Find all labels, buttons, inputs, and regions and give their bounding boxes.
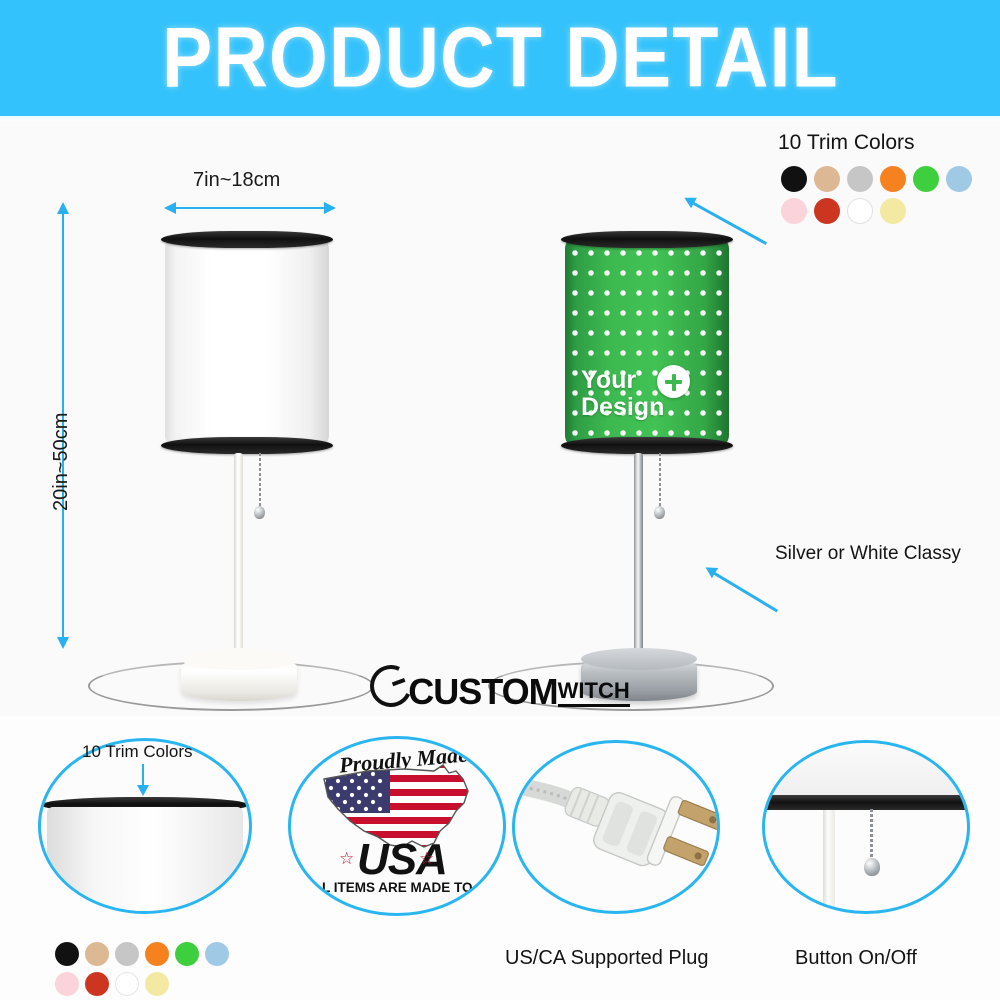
swatch-green[interactable] [175,942,199,966]
swatch-red[interactable] [85,972,109,996]
base-finish-label: Silver or White Classy [775,543,961,565]
shade-bottom-trim [161,437,333,454]
feature-circle-trim-colors [38,738,252,914]
shade-closeup [47,807,243,914]
us-plug-icon [515,743,717,911]
lamp-shade-white [165,239,329,445]
shade-bottom-closeup [762,743,970,799]
pull-chain [659,453,661,508]
header-banner: PRODUCT DETAIL [0,0,1000,116]
swatch-black[interactable] [781,166,807,192]
swatch-tan[interactable] [85,942,109,966]
product-detail-infographic: PRODUCT DETAIL 7in~18cm 20in~50cm [0,0,1000,1000]
feature-circle-switch [762,740,970,914]
swatch-gray[interactable] [115,942,139,966]
feature-circle-plug [512,740,720,914]
width-dimension-label: 7in~18cm [193,169,280,192]
star-right-icon: ☆ [419,849,434,869]
pull-chain-ball [654,506,665,519]
swatch-red[interactable] [814,198,840,224]
design-line-1: Your [581,366,636,394]
swatch-yellow[interactable] [880,198,906,224]
shade-bottom-trim [561,437,733,454]
swatch-white[interactable] [847,198,873,224]
white-lamp: 7in~18cm [75,161,405,721]
swatch-pink[interactable] [781,198,807,224]
swatch-white[interactable] [115,972,139,996]
swatch-green[interactable] [913,166,939,192]
swatch-yellow[interactable] [145,972,169,996]
swatch-black[interactable] [55,942,79,966]
green-lamp: Your Design [475,161,805,721]
swatch-light-blue[interactable] [946,166,972,192]
page-title: PRODUCT DETAIL [162,10,839,107]
feature-circle-made-in-usa: Proudly Made in the [288,736,506,916]
bottom-trim-swatches [55,942,255,1002]
star-left-icon: ☆ [339,849,354,869]
swatch-tan[interactable] [814,166,840,192]
pull-chain [259,453,261,508]
width-dimension-arrow [175,207,325,209]
shade-top-trim [161,231,333,248]
height-dimension-label: 20in~50cm [50,413,73,511]
brand-logo: CUSTOM WITCH [0,665,1000,709]
brand-secondary-text: WITCH [558,679,630,707]
usa-badge-sub: ALL ITEMS ARE MADE TO ORDER! [304,880,506,895]
trim-colors-title: 10 Trim Colors [778,131,915,155]
brand-primary-text: CUSTOM [408,675,557,709]
swatch-light-blue[interactable] [205,942,229,966]
design-line-2: Design [581,393,664,421]
pull-chain-ball [254,506,265,519]
main-product-area: 7in~18cm 20in~50cm [0,121,1000,716]
swatch-pink[interactable] [55,972,79,996]
swatch-orange[interactable] [145,942,169,966]
pole-closeup [823,810,835,911]
shade-top-trim [561,231,733,248]
your-design-text: Your Design [581,367,721,421]
lamp-shade-green: Your Design [565,239,729,445]
pull-chain-closeup [870,809,873,861]
trim-color-swatches [781,166,996,230]
trim-closeup-arrow [142,764,144,786]
feature-label-switch: Button On/Off [795,947,917,970]
plus-icon [657,365,690,398]
swatch-gray[interactable] [847,166,873,192]
pull-chain-ball-closeup [864,858,880,876]
feature-label-plug: US/CA Supported Plug [505,947,708,970]
bottom-trim-closeup [762,795,970,810]
feature-label-trim-colors: 10 Trim Colors [82,742,193,762]
swatch-orange[interactable] [880,166,906,192]
